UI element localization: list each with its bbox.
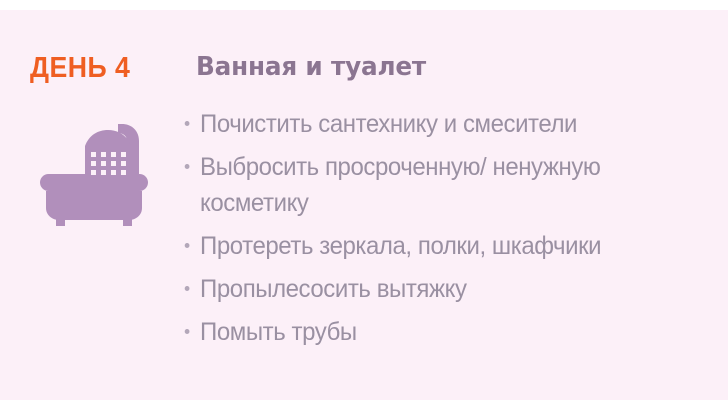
task-label: Почистить сантехнику и смесители	[200, 106, 706, 142]
day-left-column: ДЕНЬ 4	[0, 10, 180, 400]
task-label: Пропылесосить вытяжку	[200, 271, 706, 307]
day-content-column: Ванная и туалет Почистить сантехнику и с…	[177, 10, 728, 400]
bullet-icon	[185, 121, 190, 126]
bullet-icon	[185, 243, 190, 248]
task-list-item: Почистить сантехнику и смесители	[177, 106, 706, 142]
bullet-icon	[185, 329, 190, 334]
task-label: Протереть зеркала, полки, шкафчики	[200, 228, 706, 264]
task-list: Почистить сантехнику и смесители Выброси…	[177, 106, 728, 357]
task-label: Помыть трубы	[200, 314, 706, 350]
bathtub-shower-icon	[34, 108, 154, 226]
bullet-icon	[185, 164, 190, 169]
task-list-item: Протереть зеркала, полки, шкафчики	[177, 228, 706, 264]
task-label: Выбросить просроченную/ ненужную космети…	[200, 149, 706, 221]
section-title: Ванная и туалет	[196, 54, 426, 80]
bullet-icon	[185, 286, 190, 291]
task-list-item: Выбросить просроченную/ ненужную космети…	[177, 149, 706, 221]
day-card: ДЕНЬ 4	[0, 10, 728, 400]
day-badge-label: ДЕНЬ 4	[30, 54, 130, 83]
task-list-item: Пропылесосить вытяжку	[177, 271, 706, 307]
task-list-item: Помыть трубы	[177, 314, 706, 350]
